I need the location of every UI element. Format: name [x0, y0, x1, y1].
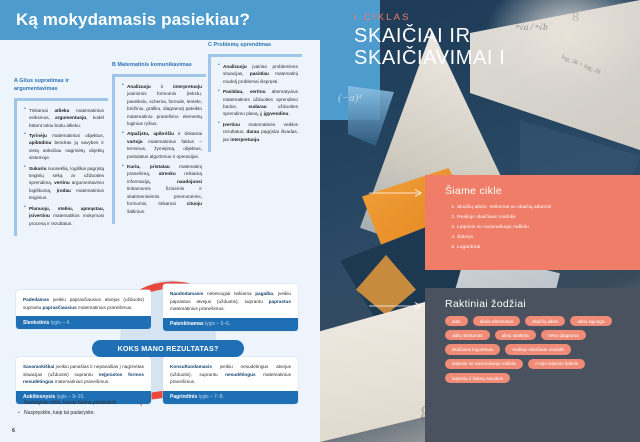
- result-box-text: Naudodamasis netiesiogiai teikiama pagal…: [170, 290, 291, 313]
- center-question-pill: KOKS MANO REZULTATAS?: [92, 340, 244, 357]
- result-box-text: Padedamas įveikiu paprasčiausius atvejus…: [23, 296, 144, 311]
- cover-title: SKAIČIAI IR SKAIČIAVIMAI I: [354, 25, 505, 70]
- list-item: Kuriu, pristatau matematinį pranešimą, a…: [122, 163, 202, 215]
- column-a-list: Tinkamai atlieku matematinius veiksmus, …: [24, 107, 104, 227]
- column-a-box: Tinkamai atlieku matematinius veiksmus, …: [14, 98, 108, 236]
- keyword-pill: n-tojo laipsnio šaknis: [528, 359, 585, 369]
- column-b-box: Analizuoju ir interpretuoju įvairiomis f…: [112, 74, 206, 224]
- level-badge: Pagrindinis lygis – 7–8.: [163, 391, 298, 404]
- level-name: Slenkstinis: [23, 320, 49, 326]
- list-item: Planuoju, stebiu, apmąstau, įsivertinu m…: [24, 205, 104, 227]
- right-page: (−a)² ⁿ√a / ⁿ√b log₂ 36 + log₂ 26 a ≥ 0 …: [320, 0, 640, 442]
- competency-column-c: C Problemų sprendimas Analizuoju įvairia…: [208, 42, 302, 152]
- column-c-box: Analizuoju įvairias problemines situacij…: [208, 54, 302, 152]
- list-item: Analizuoju ir interpretuoju įvairiomis f…: [122, 83, 202, 128]
- cover-title-line-1: SKAIČIAI IR: [354, 25, 505, 47]
- result-box-slenkstinis: Padedamas įveikiu paprasčiausius atvejus…: [16, 290, 151, 329]
- level-name: Patenkinamas: [170, 321, 204, 327]
- list-item: Tinkamai atlieku matematinius veiksmus, …: [24, 107, 104, 129]
- column-b-title: B Matematinis komunikavimas: [112, 62, 206, 70]
- arrow-right-icon: [369, 302, 425, 310]
- cover-title-block: I CIKLAS SKAIČIAI IR SKAIČIAVIMAI I: [354, 12, 505, 70]
- keyword-pill: realiojo skaičiaus modulis: [505, 344, 571, 354]
- keyword-pill: skaičių aibės: [525, 316, 565, 326]
- arrow-right-icon: [369, 189, 425, 197]
- note-item: Nuspręskite, kaip tai padarysite.: [18, 409, 117, 419]
- list-item: Realiojo skaičiaus modulis: [457, 213, 626, 223]
- bottom-notes: Nustatykite sritis, kurias būtina patobu…: [18, 399, 117, 418]
- cover-title-line-2: SKAIČIAVIMAI I: [354, 47, 505, 69]
- page-title: Ką mokydamasis pasiekiau?: [16, 10, 250, 30]
- left-page: Ką mokydamasis pasiekiau? A Gilus suprat…: [0, 0, 320, 442]
- column-a-title: A Gilus supratimas ir argumentavimas: [14, 78, 108, 94]
- result-box-text: Konsultuodamasis įveikiu nesudėtingus at…: [170, 363, 291, 386]
- keyword-pill: Veno diagrama: [541, 330, 586, 340]
- list-item: Pasiūlau, vertinu alternatyvius matemati…: [218, 88, 298, 118]
- keywords-heading: Raktiniai žodžiai: [445, 298, 626, 310]
- level-value: lygis – 7–8.: [199, 394, 224, 400]
- result-box-aukstesnysis: Savarankiškai įveikiu panašias ir nepana…: [16, 357, 151, 404]
- page-number: 6: [12, 428, 15, 434]
- list-item: Laipsnis su racionaliuoju rodikliu: [457, 223, 626, 233]
- keyword-pill: aibių skirtumas: [445, 330, 490, 340]
- note-item: Nustatykite sritis, kurias būtina patobu…: [18, 399, 117, 409]
- level-badge: Slenkstinis lygis – 4.: [16, 316, 151, 329]
- keyword-pill: aibės elementas: [473, 316, 520, 326]
- competency-column-a: A Gilus supratimas ir argumentavimas Tin…: [14, 78, 108, 236]
- left-page-body: A Gilus supratimas ir argumentavimas Tin…: [0, 40, 320, 442]
- left-page-header: Ką mokydamasis pasiekiau?: [0, 0, 320, 40]
- result-cycle: Padedamas įveikiu paprasčiausius atvejus…: [0, 288, 320, 413]
- competency-columns: A Gilus supratimas ir argumentavimas Tin…: [0, 40, 320, 288]
- list-item: Tyrinėju matematinius objektus, apibūdin…: [24, 132, 104, 162]
- in-this-cycle-list: Skaičių aibės. Veiksmai su skaičių aibėm…: [445, 203, 626, 253]
- level-value: lygis – 4.: [51, 320, 71, 326]
- in-this-cycle-panel: Šiame cikle Skaičių aibės. Veiksmai su s…: [425, 175, 640, 270]
- keyword-pill: aibių sankirta: [495, 330, 536, 340]
- artwork-number-8-top: 8: [572, 10, 579, 26]
- result-box-text: Savarankiškai įveikiu panašias ir nepana…: [23, 363, 144, 386]
- cycle-label: I CIKLAS: [354, 12, 505, 23]
- list-item: Logaritmai: [457, 243, 626, 253]
- keyword-pill: aibė: [445, 316, 468, 326]
- level-name: Pagrindinis: [170, 394, 197, 400]
- in-this-cycle-heading: Šiame cikle: [445, 185, 626, 197]
- list-item: Šaknys: [457, 233, 626, 243]
- list-item: Sukuriu nuoseklią, logiškai pagrįstą tei…: [24, 165, 104, 202]
- keywords-panel: Raktiniai žodžiai aibė aibės elementas s…: [425, 288, 640, 442]
- list-item: Įvertinu matematinės veiklos rezultatus,…: [218, 121, 298, 143]
- result-box-pagrindinis: Konsultuodamasis įveikiu nesudėtingus at…: [163, 357, 298, 404]
- keywords-list: aibė aibės elementas skaičių aibės aibių…: [445, 316, 626, 383]
- keyword-pill: aibių sąjunga: [570, 316, 611, 326]
- column-c-title: C Problemų sprendimas: [208, 42, 302, 50]
- list-item: Analizuoju įvairias problemines situacij…: [218, 63, 298, 85]
- column-c-list: Analizuoju įvairias problemines situacij…: [218, 63, 298, 143]
- level-value: lygis – 5–6.: [205, 321, 230, 327]
- list-item: Atpažįstu, apibrėžiu ir tinkamai vartoju…: [122, 130, 202, 160]
- list-item: Skaičių aibės. Veiksmai su skaičių aibėm…: [457, 203, 626, 213]
- competency-column-b: B Matematinis komunikavimas Analizuoju i…: [112, 62, 206, 224]
- spread: Ką mokydamasis pasiekiau? A Gilus suprat…: [0, 0, 640, 442]
- keyword-pill: laipsnis su racionaliuoju rodikliu: [445, 359, 523, 369]
- keyword-pill: laipsnių ir šaknų savybės: [445, 373, 510, 383]
- keyword-pill: skaičiaus logaritmas: [445, 344, 500, 354]
- level-badge: Patenkinamas lygis – 5–6.: [163, 318, 298, 331]
- result-box-patenkinamas: Naudodamasis netiesiogiai teikiama pagal…: [163, 284, 298, 331]
- column-b-list: Analizuoju ir interpretuoju įvairiomis f…: [122, 83, 202, 215]
